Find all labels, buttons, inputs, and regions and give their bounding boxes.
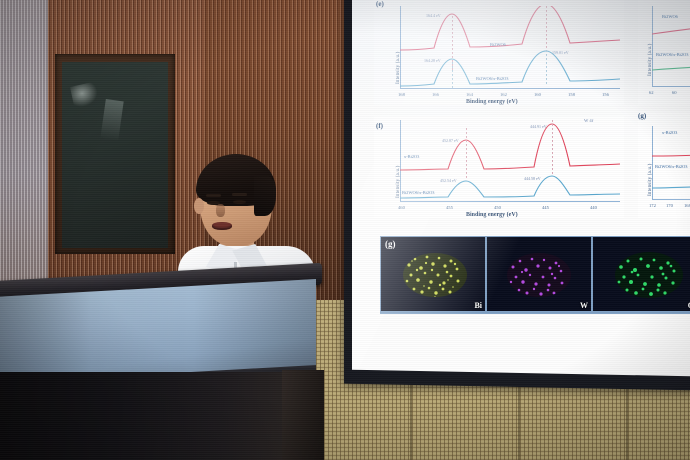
eds-w-particles: [487, 237, 591, 311]
panel-label-f: (f): [376, 122, 383, 130]
panel-e-right-tick: 60: [672, 90, 677, 95]
panel-f-tick: 460: [398, 205, 405, 210]
panel-g-right-curve-label-1: x-Bi2O3: [662, 130, 677, 135]
panel-e-x-label: Binding energy (eV): [466, 99, 518, 105]
panel-e-peak-value-1: 164.4 eV: [426, 13, 441, 18]
panel-e-right-tick: 62: [649, 90, 654, 95]
podium-body: [0, 372, 310, 460]
panel-f-curve-label-1: x-Bi2O3: [404, 154, 419, 159]
panel-f-peak-value-1: 452.87 eV: [442, 138, 459, 143]
panel-e-curve-label-1: Bi2WO6: [490, 42, 506, 47]
podium-side-edge: [282, 370, 324, 460]
panel-g-right-tick: 172: [649, 203, 656, 208]
eds-bi-particles: [381, 237, 485, 311]
xps-panel-f: (f) Intensity (a.u.) W 4f x-Bi2O3 Bi2WO6…: [374, 116, 624, 218]
eds-o-particles: [593, 237, 690, 311]
panel-e-tick: 162: [500, 92, 507, 97]
eds-mapping-group: (g): [380, 236, 690, 314]
panel-e-peak-marker-3: [452, 62, 453, 88]
eds-map-w[interactable]: W: [487, 237, 591, 311]
panel-e-tick: 158: [568, 92, 575, 97]
panel-f-curve-label-2: Bi2WO6/x-Bi2O3: [402, 190, 434, 195]
panel-e-curve-composite: [400, 40, 620, 92]
panel-f-x-label: Binding energy (eV): [466, 212, 518, 218]
xps-panel-e-right: Intensity (a.u.) Bi2WO6 Bi2WO6/x-Bi2O3 6…: [638, 0, 690, 105]
panel-e-tick: 164: [466, 92, 473, 97]
projection-screen[interactable]: (e) Intensity (a.u.) Bi2WO6 Bi2WO6/x-Bi2…: [352, 0, 690, 376]
panel-g-right-curve-label-2: Bi2WO6/x-Bi2O3: [655, 164, 687, 169]
xps-panel-g-right: (g) Intensity (a.u.) x-Bi2O3 Bi2WO6/x-Bi…: [638, 112, 690, 218]
panel-label-g-right: (g): [638, 112, 646, 120]
panel-label-e: (e): [376, 0, 384, 8]
eds-element-label-bi: Bi: [474, 301, 482, 310]
panel-f-peak-value-4: 444.58 eV: [524, 176, 541, 181]
panel-e-curve-label-2: Bi2WO6/x-Bi2O3: [476, 76, 508, 81]
panel-f-tick: 450: [494, 205, 501, 210]
eds-map-o[interactable]: O: [593, 237, 690, 311]
presentation-photo: (e) Intensity (a.u.) Bi2WO6 Bi2WO6/x-Bi2…: [0, 0, 690, 460]
eds-element-label-w: W: [580, 301, 588, 310]
panel-e-peak-value-3: 159.01 eV: [552, 50, 569, 55]
panel-e-tick: 160: [534, 92, 541, 97]
panel-g-right-tick: 168: [684, 203, 690, 208]
panel-g-right-tick: 170: [666, 203, 673, 208]
panel-f-peak-value-2: 444.91 eV: [530, 124, 547, 129]
podium: [0, 0, 340, 460]
panel-f-tick: 455: [446, 205, 453, 210]
panel-e-right-curve-label-1: Bi2WO6: [662, 14, 678, 19]
panel-e-peak-value-2: 164.28 eV: [424, 58, 441, 63]
panel-e-tick: 166: [432, 92, 439, 97]
panel-e-tick: 168: [398, 92, 405, 97]
panel-e-right-x-axis: [652, 86, 690, 87]
panel-e-tick: 156: [602, 92, 609, 97]
panel-f-tick: 440: [590, 205, 597, 210]
panel-f-peak-value-3: 452.54 eV: [440, 178, 457, 183]
panel-e-right-curve-label-2: Bi2WO6/x-Bi2O3: [656, 52, 688, 57]
panel-e-peak-marker-4: [546, 50, 547, 86]
eds-map-bi[interactable]: (g): [381, 237, 485, 311]
panel-g-right-curves: [652, 126, 690, 200]
panel-f-tick: 445: [542, 205, 549, 210]
panel-f-curve-composite: [400, 168, 620, 204]
xps-panel-e: (e) Intensity (a.u.) Bi2WO6 Bi2WO6/x-Bi2…: [374, 0, 624, 105]
